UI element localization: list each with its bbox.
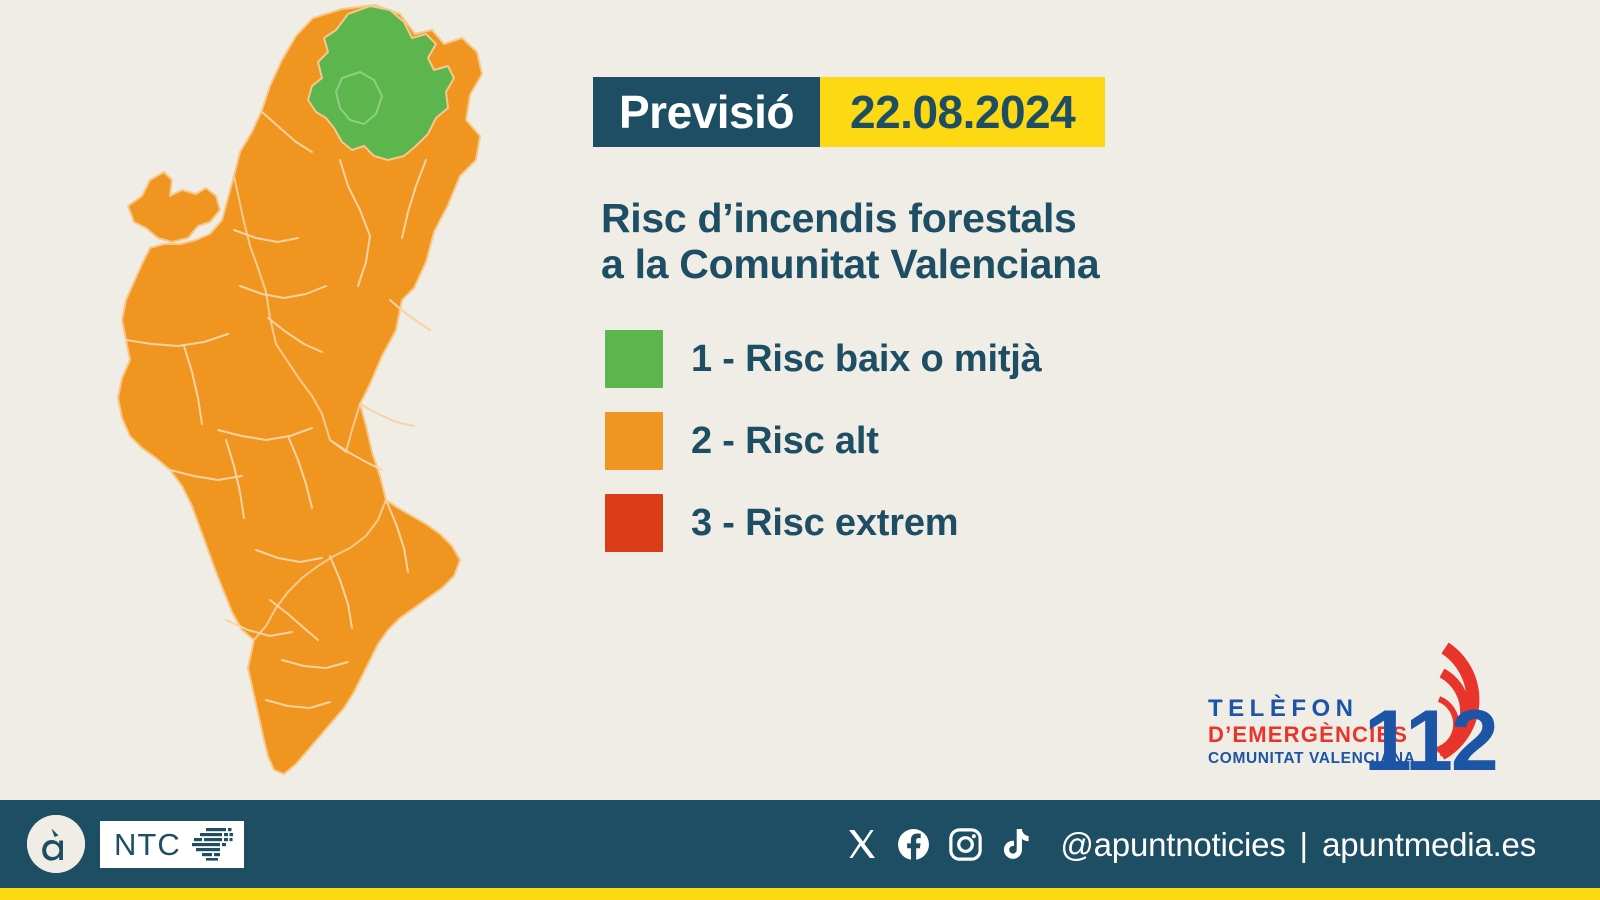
logo-line-telefon: TELÈFON xyxy=(1208,694,1359,722)
social-links-group: @apuntnoticies | apuntmedia.es xyxy=(846,828,1536,861)
title-line-1: Risc d’incendis forestals xyxy=(601,196,1301,242)
legend-item-1: 1 - Risc baix o mitjà xyxy=(605,318,1225,400)
ntc-label: NTC xyxy=(114,829,181,860)
map-regions xyxy=(118,5,482,774)
banner-label: Previsió xyxy=(593,77,820,147)
page-title: Risc d’incendis forestals a la Comunitat… xyxy=(601,196,1301,288)
legend-label-3: 3 - Risc extrem xyxy=(691,502,958,545)
ntc-motion-lines-icon xyxy=(190,826,234,862)
valencia-risk-map xyxy=(30,0,540,800)
infographic-canvas: Previsió 22.08.2024 Risc d’incendis fore… xyxy=(0,0,1600,900)
footer-accent-strip xyxy=(0,888,1600,900)
map-panel xyxy=(0,0,560,800)
footer-bar: NTC xyxy=(0,800,1600,888)
legend-item-3: 3 - Risc extrem xyxy=(605,482,1225,564)
banner-date: 22.08.2024 xyxy=(820,77,1105,147)
legend-label-1: 1 - Risc baix o mitjà xyxy=(691,338,1042,381)
x-icon[interactable] xyxy=(846,828,878,860)
legend-swatch-low-icon xyxy=(605,330,663,388)
title-line-2: a la Comunitat Valenciana xyxy=(601,242,1301,288)
forecast-banner: Previsió 22.08.2024 xyxy=(593,77,1105,147)
risk-legend: 1 - Risc baix o mitjà 2 - Risc alt 3 - R… xyxy=(605,318,1225,564)
social-handle[interactable]: @apuntnoticies xyxy=(1060,828,1285,861)
website-url[interactable]: apuntmedia.es xyxy=(1322,828,1536,861)
legend-swatch-extreme-icon xyxy=(605,494,663,552)
map-region-raco-ademus xyxy=(128,172,220,242)
telefon-emergencies-112-graphic: TELÈFON D’EMERGÈNCIES COMUNITAT VALENCIA… xyxy=(1196,624,1496,774)
brand-group: NTC xyxy=(27,815,244,873)
a-grave-glyph xyxy=(27,815,85,873)
logo-number-112: 112 xyxy=(1364,693,1496,774)
emergency-112-logo: TELÈFON D’EMERGÈNCIES COMUNITAT VALENCIA… xyxy=(1196,624,1496,774)
legend-item-2: 2 - Risc alt xyxy=(605,400,1225,482)
legend-swatch-high-icon xyxy=(605,412,663,470)
ntc-logo[interactable]: NTC xyxy=(100,821,244,868)
legend-label-2: 2 - Risc alt xyxy=(691,420,879,463)
facebook-icon[interactable] xyxy=(897,828,930,861)
footer-separator: | xyxy=(1300,828,1309,861)
apunt-a-logo-icon[interactable] xyxy=(27,815,85,873)
instagram-icon[interactable] xyxy=(949,828,982,861)
tiktok-icon[interactable] xyxy=(1001,828,1032,861)
